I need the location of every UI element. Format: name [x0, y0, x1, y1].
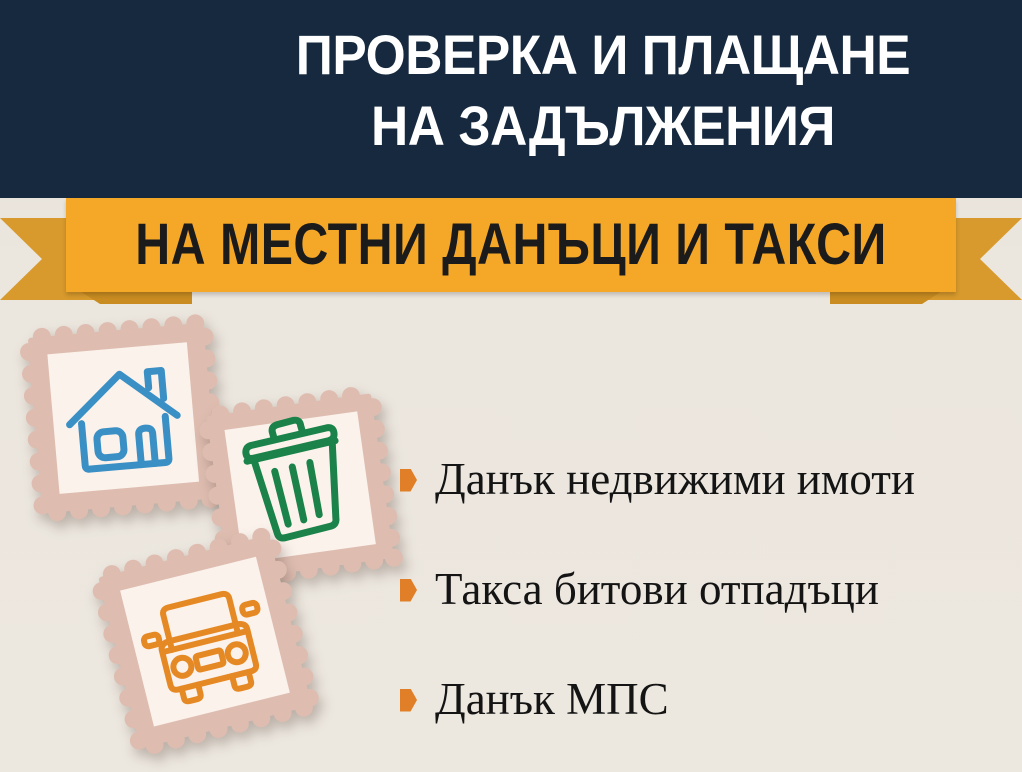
tax-type-list: Данък недвижими имоти Такса битови отпад… — [400, 425, 1010, 755]
list-item-label: Такса битови отпадъци — [435, 566, 879, 613]
ribbon-label: НА МЕСТНИ ДАНЪЦИ И ТАКСИ — [135, 211, 886, 278]
bullet-arrow-icon — [400, 579, 417, 602]
bullet-arrow-icon — [400, 689, 417, 712]
header-bar: ПРОВЕРКА И ПЛАЩАНЕ НА ЗАДЪЛЖЕНИЯ — [0, 0, 1022, 198]
poster-canvas: ПРОВЕРКА И ПЛАЩАНЕ НА ЗАДЪЛЖЕНИЯ — [0, 0, 1022, 772]
stamp-card-car — [92, 528, 332, 763]
page-title: ПРОВЕРКА И ПЛАЩАНЕ НА ЗАДЪЛЖЕНИЯ — [229, 20, 978, 161]
list-item[interactable]: Данък недвижими имоти — [400, 425, 1010, 535]
list-item[interactable]: Такса битови отпадъци — [400, 535, 1010, 645]
bullet-arrow-icon — [400, 469, 417, 492]
ribbon-banner: НА МЕСТНИ ДАНЪЦИ И ТАКСИ — [0, 196, 1022, 308]
list-item-label: Данък недвижими имоти — [435, 456, 915, 503]
list-item-label: Данък МПС — [435, 676, 669, 723]
list-item[interactable]: Данък МПС — [400, 645, 1010, 755]
ribbon-band: НА МЕСТНИ ДАНЪЦИ И ТАКСИ — [66, 198, 956, 292]
